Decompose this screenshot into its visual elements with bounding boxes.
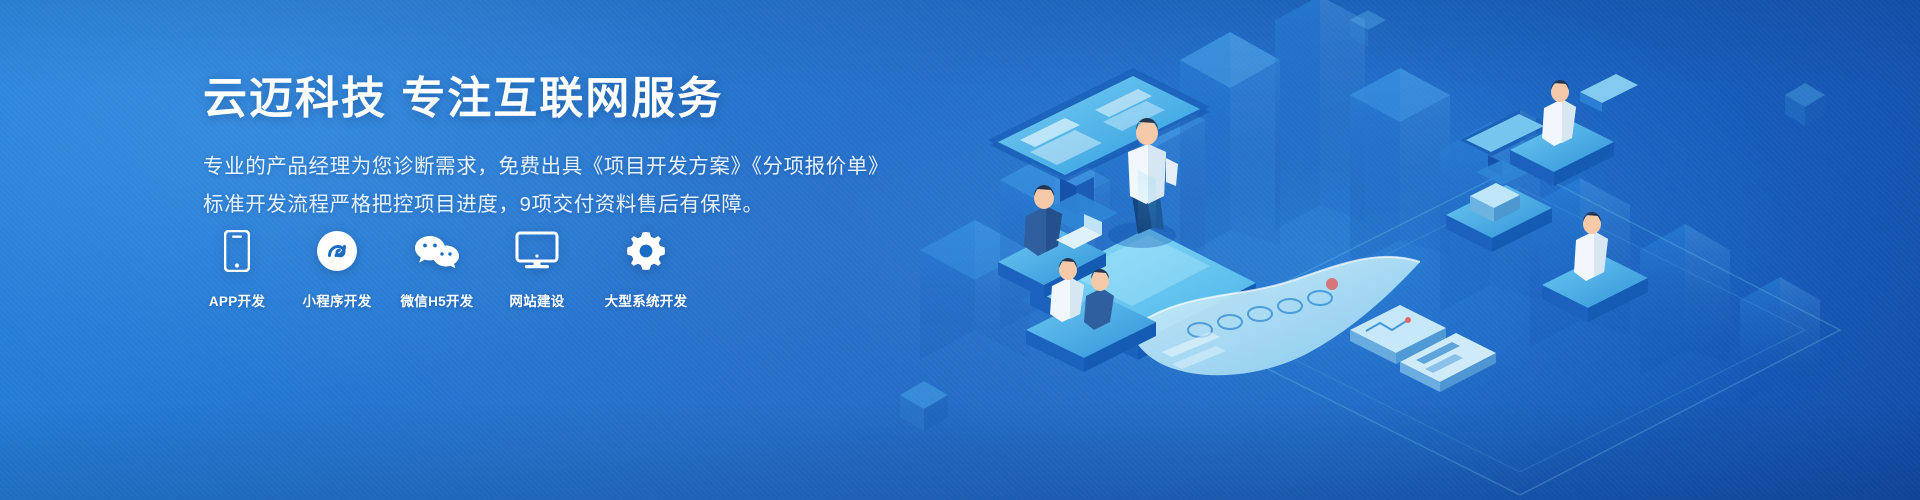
service-item-app[interactable]: APP开发 <box>200 228 274 310</box>
page-title: 云迈科技 专注互联网服务 <box>203 72 923 126</box>
subtitle-line-1: 专业的产品经理为您诊断需求，免费出具《项目开发方案》《分项报价单》 <box>203 148 923 186</box>
service-label-wechat-h5: 微信H5开发 <box>400 290 473 310</box>
gear-icon <box>625 228 667 274</box>
hero-banner: 云迈科技 专注互联网服务 专业的产品经理为您诊断需求，免费出具《项目开发方案》《… <box>0 0 1920 500</box>
service-label-mini-program: 小程序开发 <box>303 290 372 310</box>
service-label-app: APP开发 <box>209 290 265 310</box>
service-item-mini-program[interactable]: 小程序开发 <box>300 228 374 310</box>
isometric-illustration <box>880 0 1920 500</box>
subtitle-line-2: 标准开发流程严格把控项目进度，9项交付资料售后有保障。 <box>203 186 923 224</box>
service-label-website: 网站建设 <box>509 290 564 310</box>
service-item-wechat-h5[interactable]: 微信H5开发 <box>400 228 474 310</box>
mobile-phone-icon <box>224 228 250 274</box>
service-list: APP开发 小程序开发 <box>200 228 692 310</box>
monitor-icon <box>515 228 559 274</box>
mini-program-icon <box>316 228 358 274</box>
service-item-large-system[interactable]: 大型系统开发 <box>600 228 692 310</box>
wechat-icon <box>413 228 461 274</box>
hero-copy: 云迈科技 专注互联网服务 专业的产品经理为您诊断需求，免费出具《项目开发方案》《… <box>203 72 923 224</box>
service-label-large-system: 大型系统开发 <box>605 290 688 310</box>
hero-subtitle: 专业的产品经理为您诊断需求，免费出具《项目开发方案》《分项报价单》 标准开发流程… <box>203 148 923 224</box>
service-item-website[interactable]: 网站建设 <box>500 228 574 310</box>
